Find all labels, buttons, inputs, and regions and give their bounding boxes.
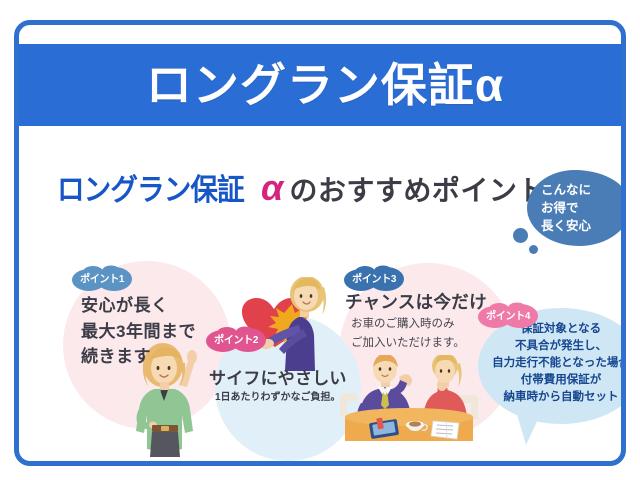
warranty-poster: ロングラン保証α ロングラン保証 α のおすすめポイント こんなに お得で 長く… — [0, 0, 640, 480]
badge-point-2-label: ポイント2 — [214, 332, 258, 347]
badge-point-4-label: ポイント4 — [486, 308, 530, 323]
badge-point-2: ポイント2 — [205, 326, 267, 353]
bubble-tail-dot-small — [529, 245, 538, 254]
badge-point-1-label: ポイント1 — [80, 271, 124, 286]
badge-point-3-label: ポイント3 — [352, 271, 396, 286]
point-2-subtext: 1日あたりわずかなご負担。 — [215, 391, 341, 404]
title-band: ロングラン保証α — [17, 44, 626, 126]
bubble-tail-dot-large — [513, 228, 528, 243]
badge-point-4: ポイント4 — [477, 302, 539, 329]
tagline-bubble: こんなに お得で 長く安心 — [527, 170, 626, 246]
illustration-table-meeting — [337, 355, 481, 441]
point-2-heading: サイフにやさしい — [209, 368, 347, 390]
tagline-line-2: お得で — [541, 199, 626, 217]
point-4-heading: 保証対象となる 不具合が発生し、 自力走行不能となった場合 付帯費用保証が 納車… — [478, 321, 626, 406]
badge-point-1: ポイント1 — [71, 265, 133, 292]
point-4-bubble-tail — [516, 411, 542, 445]
point-3-heading: チャンスは今だけ — [345, 291, 487, 314]
subtitle-rest: のおすすめポイント — [289, 169, 546, 209]
subtitle-brand: ロングラン保証 — [57, 165, 244, 209]
page-title: ロングラン保証α — [146, 62, 504, 108]
badge-point-3: ポイント3 — [343, 265, 405, 292]
point-3-subtext: お車のご購入時のみ ご加入いただけます。 — [351, 315, 465, 352]
point-1-heading: 安心が長く 最大3年間まで 続きます — [81, 293, 196, 370]
poster-frame: ロングラン保証α ロングラン保証 α のおすすめポイント こんなに お得で 長く… — [14, 20, 626, 466]
subtitle-alpha: α — [261, 167, 283, 209]
illustration-woman-heart — [237, 277, 343, 373]
tagline-line-1: こんなに — [541, 181, 626, 199]
tagline-line-3: 長く安心 — [541, 217, 626, 235]
subtitle: ロングラン保証 α のおすすめポイント — [57, 165, 546, 209]
